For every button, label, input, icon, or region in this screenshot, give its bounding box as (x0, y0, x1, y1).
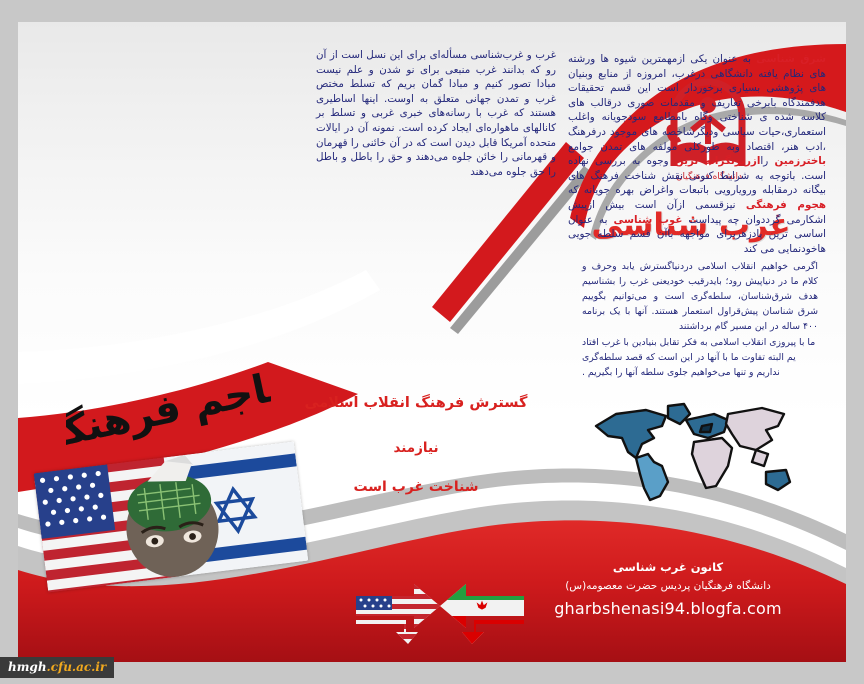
calligraphy-svg: تهاجم فرهنگی (66, 357, 271, 462)
flag-arrows-icon (356, 584, 524, 646)
article-segment-0: شرق شناسی (756, 53, 826, 65)
article-segment-1: به عنوان یکی ازمهمترین شیوه ها ورشته های… (568, 53, 826, 153)
article-segment-8: غرب شناسی (613, 214, 682, 226)
poster-frame: تهاجم فرهنگی دانشگاه فرهنگیان غرب شناسی … (18, 22, 846, 662)
source-watermark: hmgh.cfu.ac.ir (0, 657, 114, 678)
article-segment-6: هجوم فرهنگی (746, 199, 826, 211)
article-middle-column: غرب و غرب‌شناسی مسأله‌ای برای این نسل اس… (316, 48, 556, 179)
world-map-graphic (582, 400, 822, 512)
world-map-icon (582, 400, 822, 512)
footer-block: کانون غرب شناسی دانشگاه فرهنگیان پردیس ح… (518, 560, 818, 618)
watermark-part-1: hmgh (8, 660, 47, 674)
usa-iran-flag-arrows (356, 584, 524, 646)
footer-org-name: کانون غرب شناسی (518, 560, 818, 574)
right-panel-text: اگرمی خواهیم انقلاب اسلامی دردنیاگسترش ی… (582, 259, 818, 381)
slogan-line-3: شناخت غرب است (286, 479, 546, 495)
footer-org-sub: دانشگاه فرهنگیان پردیس حضرت معصومه(س) (518, 580, 818, 592)
article-middle-text: غرب و غرب‌شناسی مسأله‌ای برای این نسل اس… (316, 49, 556, 178)
article-left-column: شرق شناسی به عنوان یکی ازمهمترین شیوه ها… (568, 52, 826, 257)
calligraphy-cultural-invasion: تهاجم فرهنگی (66, 357, 271, 462)
calligraphy-text: تهاجم فرهنگی (66, 357, 271, 462)
right-panel-paragraph-1: اگرمی خواهیم انقلاب اسلامی دردنیاگسترش ی… (582, 259, 818, 334)
footer-url[interactable]: gharbshenasi94.blogfa.com (518, 599, 818, 618)
article-segment-3: را (760, 155, 774, 167)
article-segment-4: ازریزنگرانه ترین (675, 155, 761, 167)
slogan-line-1: گسترش فرهنگ انقلاب اسلامی (286, 395, 546, 411)
article-segment-2: باخترزمین (774, 155, 826, 167)
right-panel-paragraph-2: ما با پیروزی انقلاب اسلامی به فکر تقابل … (582, 335, 818, 380)
watermark-part-2: .cfu.ac.ir (47, 660, 107, 674)
article-left-rich-text: شرق شناسی به عنوان یکی ازمهمترین شیوه ها… (568, 53, 826, 255)
slogan-line-2: نیازمند (286, 440, 546, 456)
